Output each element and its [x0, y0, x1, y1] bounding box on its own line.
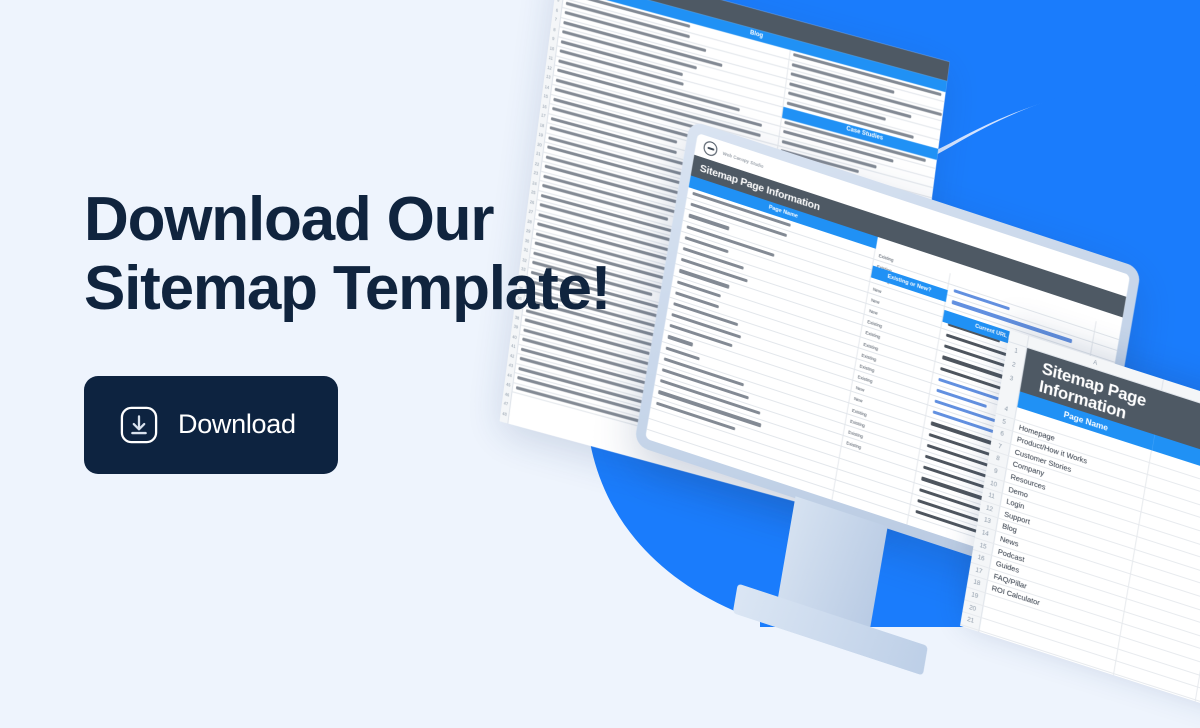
cell-extra[interactable] [1196, 688, 1200, 726]
download-button-label: Download [178, 409, 296, 440]
page-title: Download Our Sitemap Template! [84, 186, 644, 324]
row-number: 23 [960, 637, 977, 655]
download-button[interactable]: Download [84, 376, 338, 474]
cell-redirects[interactable] [1104, 724, 1188, 728]
hero-copy: Download Our Sitemap Template! Download [84, 186, 644, 474]
row-number: 25 [960, 662, 973, 680]
row-number: 26 [960, 674, 971, 692]
cell-redirects[interactable] [1108, 699, 1192, 728]
cell-extra[interactable] [1190, 725, 1200, 728]
cell-extra[interactable] [1192, 713, 1200, 728]
cell-redirects[interactable] [1106, 711, 1190, 728]
row-number: 24 [960, 649, 975, 667]
circle-logo-icon [703, 139, 719, 157]
cell-page-name[interactable] [969, 680, 1106, 727]
cell-extra[interactable] [1194, 700, 1200, 728]
download-tray-icon [120, 406, 158, 444]
cell-page-name[interactable] [971, 668, 1108, 723]
